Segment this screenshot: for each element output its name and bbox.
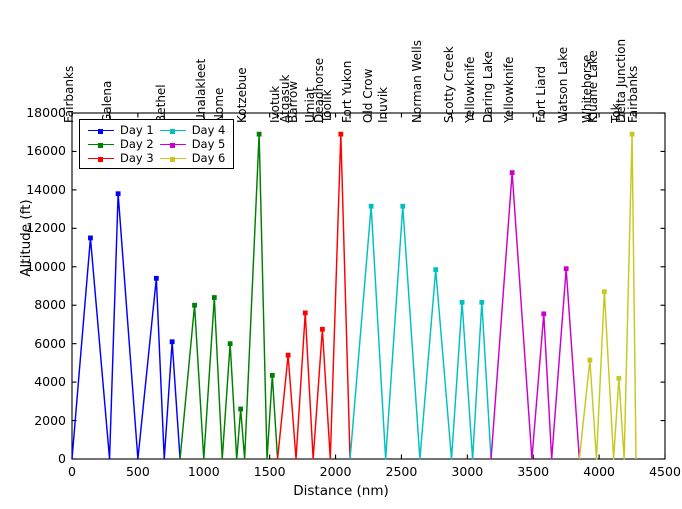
legend-row: Day 3Day 6 bbox=[85, 151, 228, 165]
y-tick-label: 4000 bbox=[0, 374, 66, 389]
waypoint-label: Galena bbox=[100, 81, 114, 123]
waypoint-label: Inuvik bbox=[376, 87, 390, 123]
x-tick-label: 2000 bbox=[306, 464, 366, 479]
waypoint-label: Old Crow bbox=[361, 69, 375, 123]
legend-swatch bbox=[85, 123, 117, 137]
chart-legend[interactable]: Day 1Day 4Day 2Day 5Day 3Day 6 bbox=[79, 119, 234, 169]
waypoint-label: Daring Lake bbox=[481, 51, 495, 123]
legend-row: Day 1Day 4 bbox=[85, 123, 228, 137]
waypoint-label: Unalakleet bbox=[194, 59, 208, 123]
x-tick-label: 0 bbox=[42, 464, 102, 479]
chart-figure: Altitude (ft) Distance (nm) 020004000600… bbox=[0, 0, 682, 509]
y-tick-label: 12000 bbox=[0, 220, 66, 235]
legend-label: Day 2 bbox=[117, 137, 157, 151]
legend-label: Day 6 bbox=[189, 151, 229, 165]
y-tick-label: 18000 bbox=[0, 105, 66, 120]
waypoint-label: Barrow bbox=[286, 81, 300, 123]
waypoint-label: Nome bbox=[212, 88, 226, 123]
x-tick-label: 2500 bbox=[371, 464, 431, 479]
legend-swatch bbox=[85, 151, 117, 165]
waypoint-label: Fairbanks bbox=[62, 66, 76, 123]
x-axis-label: Distance (nm) bbox=[0, 483, 682, 499]
x-tick-label: 1000 bbox=[174, 464, 234, 479]
waypoint-label: Fort Liard bbox=[534, 66, 548, 123]
x-tick-label: 3500 bbox=[503, 464, 563, 479]
legend-label: Day 1 bbox=[117, 123, 157, 137]
x-tick-label: 3000 bbox=[437, 464, 497, 479]
legend-label: Day 3 bbox=[117, 151, 157, 165]
waypoint-label: Norman Wells bbox=[410, 40, 424, 123]
waypoint-label: Yellowknife bbox=[502, 57, 516, 123]
waypoint-label: Fairbanks bbox=[626, 66, 640, 123]
waypoint-label: Toolik bbox=[320, 89, 334, 123]
waypoint-label: Scotty Creek bbox=[442, 46, 456, 123]
y-tick-label: 8000 bbox=[0, 297, 66, 312]
x-tick-label: 4000 bbox=[569, 464, 629, 479]
legend-swatch bbox=[157, 151, 189, 165]
x-tick-label: 4500 bbox=[635, 464, 682, 479]
y-tick-label: 14000 bbox=[0, 182, 66, 197]
y-tick-label: 2000 bbox=[0, 413, 66, 428]
legend-swatch bbox=[157, 123, 189, 137]
x-tick-label: 500 bbox=[108, 464, 168, 479]
waypoint-label: Kotzebue bbox=[235, 67, 249, 123]
waypoint-label: Watson Lake bbox=[556, 47, 570, 123]
waypoint-label: Fort Yukon bbox=[340, 61, 354, 123]
y-tick-label: 6000 bbox=[0, 336, 66, 351]
legend-label: Day 5 bbox=[189, 137, 229, 151]
x-tick-label: 1500 bbox=[240, 464, 300, 479]
waypoint-label: Kluane Lake bbox=[586, 50, 600, 123]
legend-swatch bbox=[157, 137, 189, 151]
legend-row: Day 2Day 5 bbox=[85, 137, 228, 151]
legend-label: Day 4 bbox=[189, 123, 229, 137]
waypoint-label: Bethel bbox=[154, 84, 168, 123]
y-tick-label: 10000 bbox=[0, 259, 66, 274]
waypoint-label: Yellowknife bbox=[463, 57, 477, 123]
y-tick-label: 16000 bbox=[0, 143, 66, 158]
legend-swatch bbox=[85, 137, 117, 151]
